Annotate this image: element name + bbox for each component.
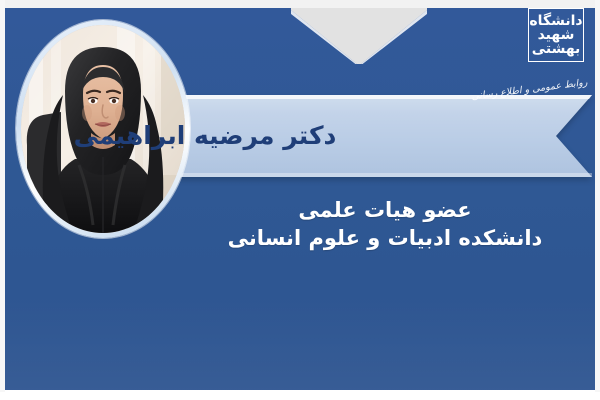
logo-line-1: دانشگاه <box>529 14 582 28</box>
logo-line-3: بهشتی <box>532 42 581 56</box>
faculty-announcement-card: دکتر مرضیه ابراهیمی <box>0 0 600 400</box>
role-text: عضو هیات علمی <box>190 196 580 224</box>
logo-frame-icon: دانشگاه شهید بهشتی <box>528 8 584 62</box>
faculty-name-text: دکتر مرضیه ابراهیمی <box>0 122 530 150</box>
top-chevron-notch-icon <box>291 8 427 64</box>
card-frame-right <box>595 0 600 392</box>
university-logo: دانشگاه شهید بهشتی روابط عمومی و اطلاع ر… <box>486 4 590 92</box>
faculty-name-banner: دکتر مرضیه ابراهیمی <box>0 95 530 177</box>
faculty-department-text: دانشکده ادبیات و علوم انسانی <box>190 224 580 252</box>
logo-line-2: شهید <box>538 28 575 42</box>
logo-text-stack: دانشگاه شهید بهشتی <box>529 9 583 61</box>
subtitle-block: عضو هیات علمی دانشکده ادبیات و علوم انسا… <box>190 196 580 253</box>
